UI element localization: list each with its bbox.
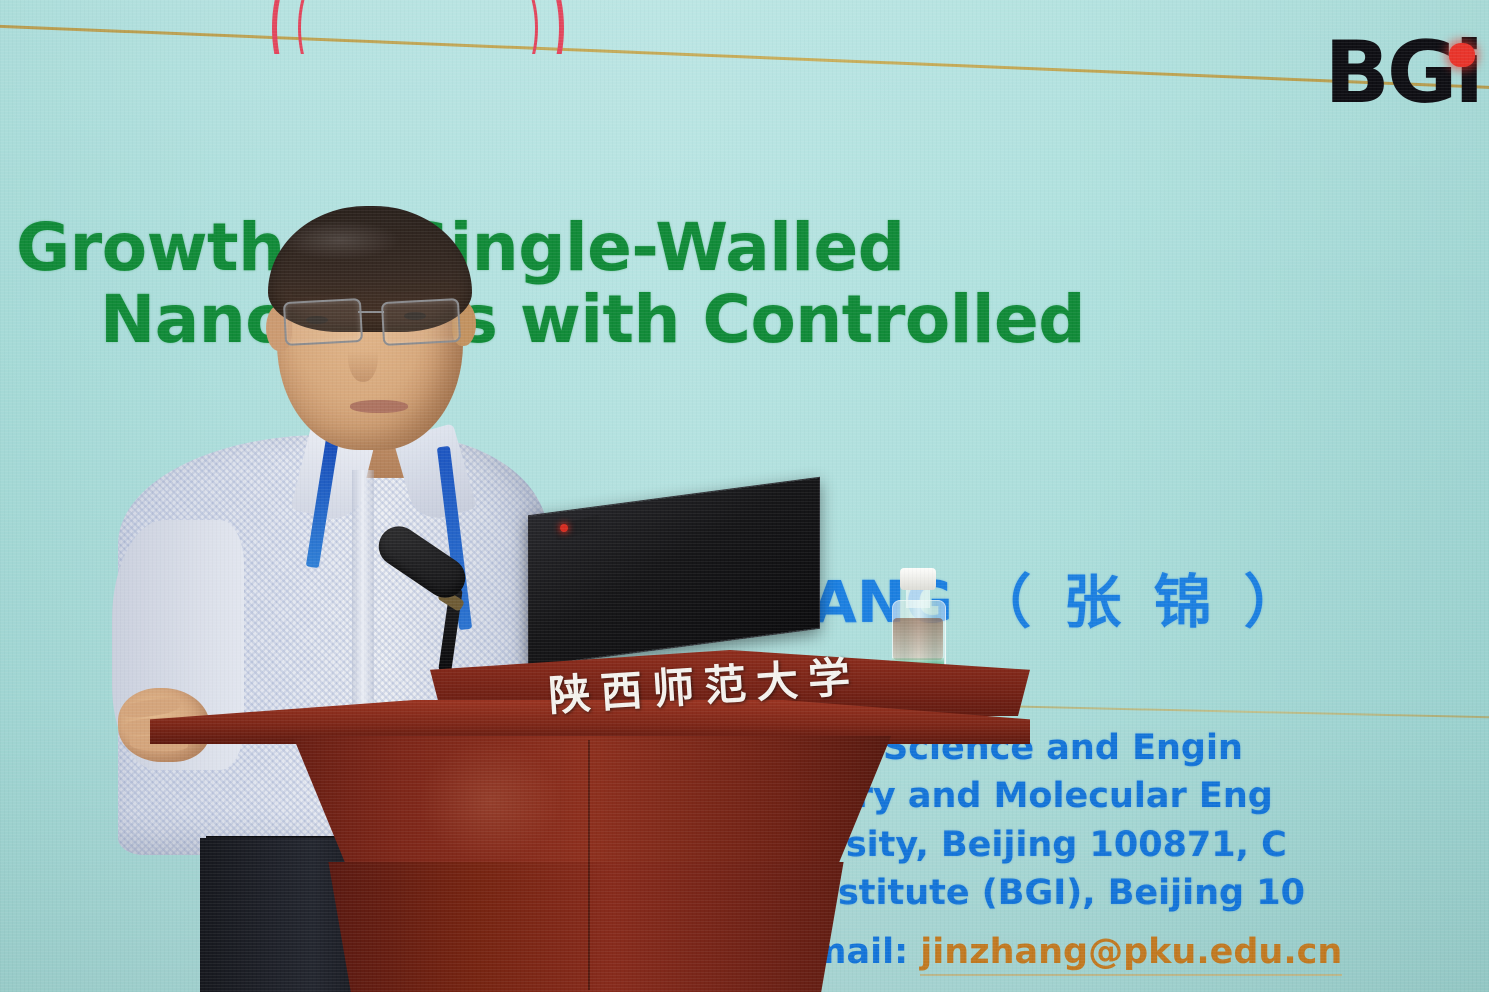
presentation-photo: 1993 大 BGi Growth of Single-Walled Nanot… [0,0,1489,992]
eyeglass-bridge [358,311,384,313]
speaker-nose [348,330,378,382]
podium-highlight [420,742,560,860]
speaker-mouth [350,400,408,413]
thinkpad-red-dot-icon [560,524,568,532]
eyeglass-lens-right [381,298,461,346]
podium-center-seam [588,740,590,990]
podium-base [306,862,866,992]
podium-front-face [252,736,932,868]
water-bottle-cap [900,568,936,590]
